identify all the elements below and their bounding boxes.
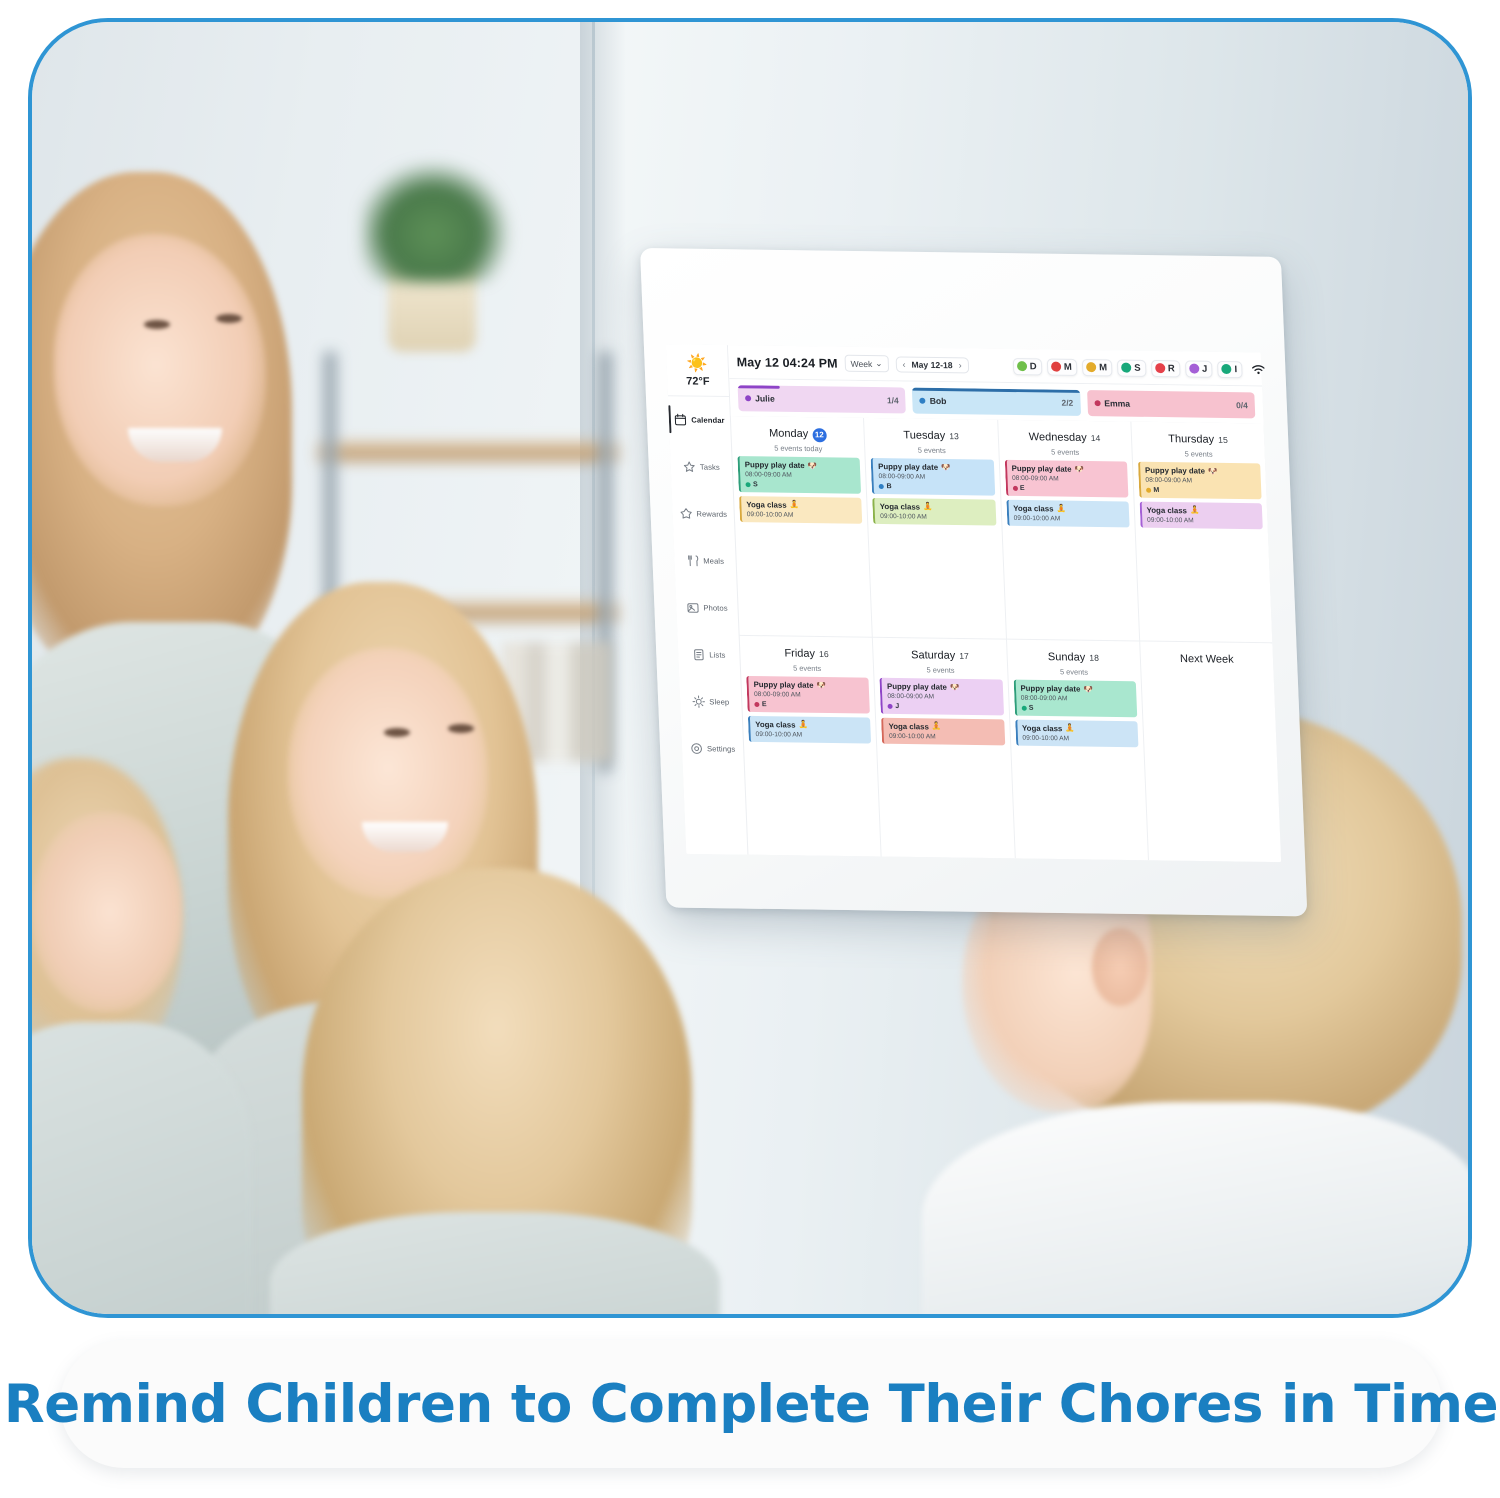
event-time-range: 09:00-10:00 AM: [1013, 514, 1124, 523]
member-avatar-chip[interactable]: M: [1047, 358, 1078, 375]
event-emoji-icon: 🧘: [798, 721, 808, 729]
calendar-day-column[interactable]: Wednesday145 eventsPuppy play date🐶08:00…: [998, 420, 1139, 641]
progress-bar-fill: [912, 388, 1080, 393]
event-title-row: Yoga class🧘: [880, 502, 991, 513]
view-mode-label: Week: [850, 358, 872, 368]
event-time-range: 08:00-09:00 AM: [754, 691, 865, 700]
assignee-initial: B: [886, 483, 891, 490]
list-icon: [692, 648, 706, 661]
member-name: Bob: [929, 396, 946, 406]
event-time-range: 08:00-09:00 AM: [745, 471, 856, 480]
calendar-week-grid: Monday125 events todayPuppy play date🐶08…: [731, 416, 1281, 862]
calendar-event-card[interactable]: Yoga class🧘09:00-10:00 AM: [1139, 501, 1262, 529]
day-header: Saturday175 events: [878, 643, 1002, 680]
day-name: Tuesday: [903, 429, 945, 442]
calendar-event-card[interactable]: Yoga class🧘09:00-10:00 AM: [872, 497, 995, 525]
member-avatar-chip[interactable]: S: [1117, 359, 1146, 376]
day-title: Friday16: [784, 647, 829, 660]
sidebar-item-label: Lists: [709, 650, 726, 659]
sidebar-item-label: Tasks: [700, 463, 720, 472]
event-title-row: Yoga class🧘: [1022, 723, 1133, 734]
event-time-range: 08:00-09:00 AM: [1145, 477, 1256, 486]
member-task-count: 2/2: [1061, 398, 1073, 408]
event-title-row: Puppy play date🐶: [753, 680, 864, 691]
member-identity: Emma: [1094, 398, 1130, 408]
event-title-row: Yoga class🧘: [1013, 503, 1124, 514]
day-header: Wednesday145 events: [1003, 425, 1127, 462]
member-avatar-chip[interactable]: I: [1217, 360, 1243, 377]
event-assignee: J: [888, 702, 999, 711]
member-name: Emma: [1104, 398, 1130, 408]
member-name: Julie: [755, 393, 775, 403]
banner-headline: Remind Children to Complete Their Chores…: [4, 1374, 1498, 1435]
avatar-dot: [1086, 362, 1096, 372]
day-number: 14: [1091, 433, 1101, 443]
day-title: Thursday15: [1168, 433, 1228, 446]
event-title-row: Yoga class🧘: [1146, 505, 1257, 516]
day-title: Wednesday14: [1029, 431, 1101, 444]
event-title: Yoga class: [1146, 505, 1187, 515]
day-header: Monday125 events today: [736, 421, 860, 458]
member-avatar-chip[interactable]: J: [1185, 360, 1213, 377]
calendar-event-card[interactable]: Puppy play date🐶08:00-09:00 AMS: [1013, 680, 1137, 717]
calendar-event-card[interactable]: Yoga class🧘09:00-10:00 AM: [748, 715, 871, 743]
member-avatar-list: DMMSRJI: [1012, 358, 1242, 378]
event-assignee: E: [754, 700, 865, 709]
event-title: Yoga class: [1013, 503, 1054, 513]
day-event-count: 5 events: [1013, 667, 1136, 678]
day-number-today: 12: [812, 428, 827, 442]
event-title: Puppy play date: [1145, 466, 1205, 476]
event-title-row: Yoga class🧘: [888, 721, 999, 732]
event-assignee: M: [1146, 486, 1257, 495]
avatar-initial: M: [1064, 361, 1073, 372]
event-title: Yoga class: [888, 721, 929, 731]
calendar-day-column[interactable]: Tuesday135 eventsPuppy play date🐶08:00-0…: [864, 418, 1005, 639]
day-number: 18: [1089, 653, 1099, 663]
member-progress-card[interactable]: Emma0/4: [1087, 390, 1256, 418]
event-title-row: Puppy play date🐶: [1020, 684, 1131, 695]
device-screen: ☀️ 72°F CalendarTasksRewardsMealsPhotosL…: [666, 344, 1281, 862]
event-time-range: 09:00-10:00 AM: [889, 732, 1000, 741]
avatar-dot: [1051, 362, 1061, 372]
day-title: Tuesday13: [903, 429, 959, 442]
avatar-dot: [1017, 361, 1027, 371]
day-name: Saturday: [911, 649, 956, 662]
event-title: Yoga class: [1022, 723, 1063, 733]
assignee-color-dot: [754, 701, 759, 706]
calendar-event-card[interactable]: Puppy play date🐶08:00-09:00 AME: [1004, 460, 1128, 497]
event-emoji-icon: 🧘: [932, 723, 942, 731]
assignee-color-dot: [745, 482, 750, 487]
star-icon: [683, 460, 697, 473]
calendar-event-card[interactable]: Puppy play date🐶08:00-09:00 AMM: [1138, 462, 1262, 499]
calendar-day-column[interactable]: Sunday185 eventsPuppy play date🐶08:00-09…: [1007, 640, 1148, 861]
calendar-event-card[interactable]: Yoga class🧘09:00-10:00 AM: [1006, 499, 1129, 527]
member-identity: Bob: [919, 396, 946, 406]
event-assignee: S: [745, 481, 856, 490]
event-title: Yoga class: [755, 719, 796, 729]
member-color-dot: [1094, 400, 1100, 406]
event-time-range: 09:00-10:00 AM: [1022, 734, 1133, 743]
sidebar-item-label: Settings: [707, 744, 736, 753]
event-title-row: Yoga class🧘: [746, 500, 857, 511]
day-name: Monday: [769, 428, 809, 441]
sidebar-item-label: Photos: [703, 603, 728, 612]
event-title: Yoga class: [880, 502, 921, 512]
event-time-range: 08:00-09:00 AM: [1021, 695, 1132, 704]
day-header: Friday165 events: [745, 641, 869, 678]
day-event-count: 5 events: [1004, 447, 1127, 458]
event-assignee: E: [1012, 484, 1123, 493]
calendar-day-column[interactable]: Friday165 eventsPuppy play date🐶08:00-09…: [740, 636, 881, 857]
calendar-day-column[interactable]: Next Week: [1140, 641, 1281, 862]
avatar-dot: [1221, 364, 1231, 374]
sun-icon: ☀️: [686, 355, 708, 372]
chevron-down-icon: ⌄: [875, 358, 883, 369]
sidebar-item-sleep[interactable]: Sleep: [679, 678, 742, 726]
event-title: Puppy play date: [878, 462, 938, 472]
member-color-dot: [745, 395, 751, 401]
event-title: Puppy play date: [753, 680, 813, 690]
event-title-row: Yoga class🧘: [755, 719, 866, 730]
sidebar-item-photos[interactable]: Photos: [676, 584, 739, 632]
sidebar-item-tasks[interactable]: Tasks: [670, 443, 733, 491]
assignee-initial: E: [1020, 484, 1025, 491]
member-avatar-chip[interactable]: M: [1082, 359, 1113, 376]
event-assignee: B: [879, 483, 990, 492]
sidebar-item-rewards[interactable]: Rewards: [672, 490, 735, 538]
assignee-color-dot: [879, 484, 884, 489]
event-title-row: Puppy play date🐶: [1145, 466, 1256, 477]
avatar-initial: S: [1134, 362, 1141, 373]
event-title-row: Puppy play date🐶: [878, 462, 989, 473]
event-time-range: 09:00-10:00 AM: [747, 511, 858, 520]
event-emoji-icon: 🧘: [1190, 507, 1200, 515]
member-progress-card[interactable]: Bob2/2: [912, 388, 1081, 416]
day-header: Tuesday135 events: [869, 423, 993, 460]
day-event-count: 5 events: [879, 665, 1002, 676]
member-identity: Julie: [745, 393, 775, 403]
day-event-count: 5 events today: [737, 443, 860, 454]
event-time-range: 09:00-10:00 AM: [1147, 516, 1258, 525]
day-title: Monday12: [769, 427, 827, 442]
progress-bar-fill: [738, 385, 780, 388]
avatar-dot: [1189, 364, 1199, 374]
sidebar-item-label: Rewards: [696, 509, 727, 518]
avatar-dot: [1155, 363, 1165, 373]
event-emoji-icon: 🐶: [1074, 465, 1084, 473]
sidebar-item-lists[interactable]: Lists: [677, 631, 740, 679]
assignee-initial: M: [1153, 486, 1159, 493]
weather-temperature: 72°F: [686, 375, 710, 387]
day-event-count: 5 events: [746, 663, 869, 674]
calendar-day-column[interactable]: Monday125 events todayPuppy play date🐶08…: [731, 416, 872, 637]
calendar-event-card[interactable]: Puppy play date🐶08:00-09:00 AME: [746, 676, 870, 713]
day-event-count: 5 events: [1137, 449, 1260, 460]
member-task-count: 1/4: [887, 395, 899, 405]
day-name: Friday: [784, 647, 815, 659]
day-name: Next Week: [1180, 653, 1234, 666]
day-name: Sunday: [1048, 651, 1086, 664]
event-time-range: 09:00-10:00 AM: [755, 730, 866, 739]
gear-icon: [690, 742, 704, 755]
event-emoji-icon: 🧘: [1056, 505, 1066, 513]
member-task-count: 0/4: [1236, 400, 1248, 410]
sidebar-item-label: Calendar: [691, 415, 725, 424]
assignee-initial: E: [762, 701, 767, 708]
assignee-color-dot: [1021, 705, 1026, 710]
day-header: Next Week: [1145, 647, 1268, 673]
event-emoji-icon: 🧘: [1065, 724, 1075, 732]
member-color-dot: [920, 398, 926, 404]
calendar-event-card[interactable]: Yoga class🧘09:00-10:00 AM: [881, 717, 1004, 745]
sleep-icon: [692, 695, 706, 708]
sidebar-item-meals[interactable]: Meals: [674, 537, 737, 585]
assignee-color-dot: [1146, 487, 1151, 492]
event-title-row: Puppy play date🐶: [1011, 464, 1122, 475]
avatar-initial: D: [1030, 361, 1038, 372]
utensils-icon: [686, 554, 700, 567]
event-time-range: 08:00-09:00 AM: [878, 473, 989, 482]
status-bar: DMMSRJI: [944, 348, 1272, 387]
event-title: Puppy play date: [745, 460, 805, 470]
event-emoji-icon: 🐶: [816, 682, 826, 690]
day-header: Sunday185 events: [1012, 645, 1136, 682]
day-number: 17: [959, 651, 969, 661]
wall-mounted-display: DMMSRJI ☀️ 72°F CalendarTasksRewardsM: [640, 248, 1307, 916]
day-number: 13: [949, 431, 959, 441]
calendar-day-column[interactable]: Saturday175 eventsPuppy play date🐶08:00-…: [873, 638, 1014, 859]
event-title: Yoga class: [746, 500, 787, 510]
day-header: Thursday155 events: [1136, 427, 1260, 464]
day-title: Saturday17: [911, 649, 969, 662]
calendar-app: ☀️ 72°F CalendarTasksRewardsMealsPhotosL…: [666, 344, 1281, 862]
badge-icon: [679, 507, 693, 520]
event-time-range: 08:00-09:00 AM: [1012, 475, 1123, 484]
member-avatar-chip[interactable]: R: [1150, 359, 1180, 376]
main-content: May 12 04:24 PM Week ⌄ ‹ May 12-18 › Jul…: [728, 345, 1281, 862]
assignee-color-dot: [888, 703, 893, 708]
calendar-event-card[interactable]: Puppy play date🐶08:00-09:00 AMB: [871, 458, 995, 495]
product-photo-card: DMMSRJI ☀️ 72°F CalendarTasksRewardsM: [28, 18, 1472, 1318]
sidebar-item-settings[interactable]: Settings: [681, 725, 744, 773]
event-emoji-icon: 🐶: [808, 462, 818, 470]
wifi-icon: [1251, 364, 1265, 375]
avatar-initial: M: [1099, 362, 1108, 373]
event-title: Puppy play date: [1011, 464, 1071, 474]
event-emoji-icon: 🐶: [1083, 685, 1093, 693]
member-progress-card[interactable]: Julie1/4: [738, 385, 907, 413]
event-emoji-icon: 🧘: [923, 503, 933, 511]
event-title-row: Puppy play date🐶: [887, 682, 998, 693]
assignee-initial: J: [895, 702, 899, 709]
calendar-event-card[interactable]: Puppy play date🐶08:00-09:00 AMJ: [880, 678, 1004, 715]
day-number: 15: [1218, 435, 1228, 445]
day-name: Wednesday: [1029, 431, 1087, 444]
weather-widget[interactable]: ☀️ 72°F: [666, 348, 729, 397]
calendar-event-card[interactable]: Yoga class🧘09:00-10:00 AM: [1015, 719, 1138, 747]
plant-leaves: [362, 162, 510, 282]
calendar-event-card[interactable]: Yoga class🧘09:00-10:00 AM: [739, 496, 862, 524]
marketing-banner: Remind Children to Complete Their Chores…: [60, 1340, 1442, 1468]
sidebar-item-label: Meals: [703, 556, 724, 565]
day-event-count: 5 events: [870, 445, 993, 456]
member-avatar-chip[interactable]: D: [1012, 358, 1042, 375]
event-title-row: Puppy play date🐶: [745, 460, 856, 471]
calendar-event-card[interactable]: Puppy play date🐶08:00-09:00 AMS: [737, 456, 861, 493]
event-emoji-icon: 🧘: [789, 501, 799, 509]
avatar-initial: I: [1234, 364, 1237, 375]
calendar-icon: [674, 413, 688, 426]
day-title: Next Week: [1180, 653, 1234, 666]
sidebar-item-calendar[interactable]: Calendar: [668, 396, 731, 444]
day-name: Thursday: [1168, 433, 1214, 446]
assignee-initial: S: [753, 481, 758, 488]
event-emoji-icon: 🐶: [941, 464, 951, 472]
avatar-dot: [1121, 363, 1131, 373]
event-assignee: S: [1021, 704, 1132, 713]
current-datetime: May 12 04:24 PM: [736, 355, 838, 370]
prev-week-button[interactable]: ‹: [902, 359, 905, 369]
day-number: 16: [819, 649, 829, 659]
assignee-color-dot: [1012, 485, 1017, 490]
day-title: Sunday18: [1048, 651, 1099, 664]
event-title: Puppy play date: [887, 682, 947, 692]
calendar-day-column[interactable]: Thursday155 eventsPuppy play date🐶08:00-…: [1131, 422, 1272, 643]
avatar-initial: J: [1202, 363, 1208, 374]
event-emoji-icon: 🐶: [950, 683, 960, 691]
event-emoji-icon: 🐶: [1208, 467, 1218, 475]
event-title: Puppy play date: [1020, 684, 1080, 694]
sidebar-item-label: Sleep: [709, 697, 729, 706]
assignee-initial: S: [1029, 704, 1034, 711]
avatar-initial: R: [1168, 363, 1176, 374]
view-mode-select[interactable]: Week ⌄: [844, 355, 888, 373]
event-time-range: 09:00-10:00 AM: [880, 512, 991, 521]
photo-icon: [686, 601, 700, 614]
event-time-range: 08:00-09:00 AM: [887, 693, 998, 702]
